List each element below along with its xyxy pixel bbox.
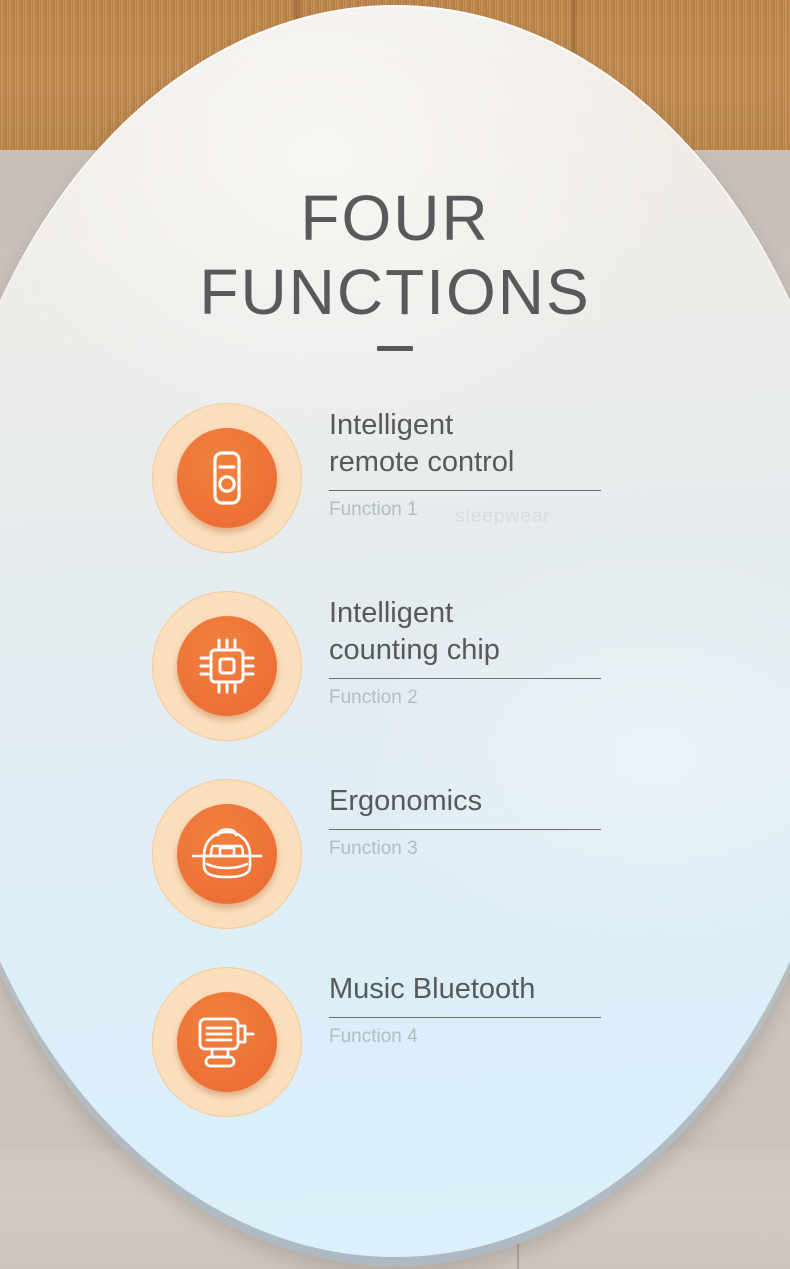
feature-row[interactable]: Intelligent counting chip Function 2 [0, 583, 790, 771]
feature-row[interactable]: Intelligent remote control Function 1 sl… [0, 395, 790, 583]
remote-control-icon [177, 428, 277, 528]
feature-subtitle: Function 1 [329, 497, 601, 523]
feature-icon-wrapper [152, 403, 302, 553]
feature-text-block: Ergonomics Function 3 [329, 783, 601, 862]
feature-title: Intelligent counting chip [329, 595, 601, 669]
feature-icon-wrapper [152, 591, 302, 741]
feature-divider [329, 490, 601, 491]
feature-title: Music Bluetooth [329, 971, 601, 1008]
feature-list: Intelligent remote control Function 1 sl… [0, 395, 790, 1147]
page-header: FOUR FUNCTIONS [0, 186, 790, 351]
feature-text-block: Intelligent counting chip Function 2 [329, 595, 601, 711]
motor-speaker-icon [177, 992, 277, 1092]
feature-subtitle: Function 3 [329, 836, 601, 862]
page-title-line-2: FUNCTIONS [0, 260, 790, 324]
feature-row[interactable]: Music Bluetooth Function 4 [0, 959, 790, 1147]
feature-icon-wrapper [152, 779, 302, 929]
feature-text-block: Intelligent remote control Function 1 [329, 407, 601, 523]
feature-subtitle: Function 2 [329, 685, 601, 711]
feature-text-block: Music Bluetooth Function 4 [329, 971, 601, 1050]
feature-title: Ergonomics [329, 783, 601, 820]
ergonomic-cooker-icon [177, 804, 277, 904]
feature-row[interactable]: Ergonomics Function 3 [0, 771, 790, 959]
feature-divider [329, 678, 601, 679]
chip-icon [177, 616, 277, 716]
page-title-line-1: FOUR [0, 186, 790, 250]
title-underline-dash [377, 346, 413, 351]
feature-title: Intelligent remote control [329, 407, 601, 481]
product-feature-poster: FOUR FUNCTIONS Intelligent remote contro… [0, 0, 790, 1269]
feature-subtitle: Function 4 [329, 1024, 601, 1050]
feature-icon-wrapper [152, 967, 302, 1117]
feature-divider [329, 829, 601, 830]
feature-divider [329, 1017, 601, 1018]
